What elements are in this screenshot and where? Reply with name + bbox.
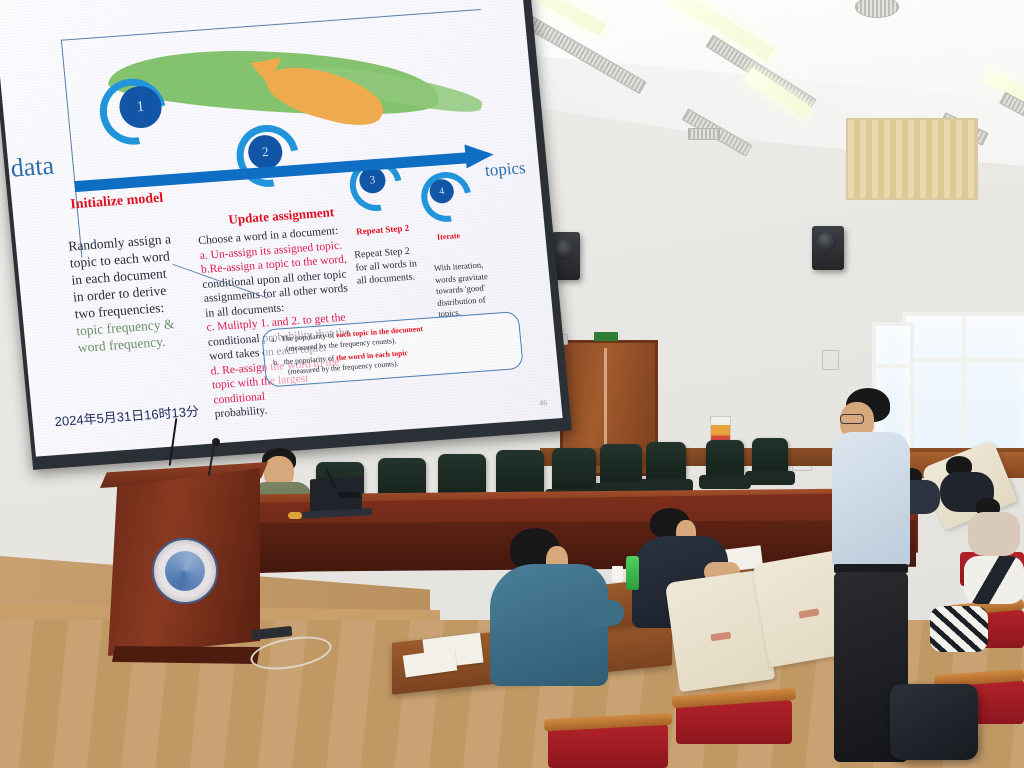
audience-torso <box>964 556 1024 604</box>
green-thermos <box>626 556 639 590</box>
audience-torso <box>490 564 608 686</box>
backpack <box>890 684 978 760</box>
wall-speaker-right <box>812 226 844 270</box>
projection-screen: 1 2 3 4 data topics <box>0 0 573 480</box>
slide-page-number: 46 <box>539 398 548 408</box>
window-curtain <box>846 118 978 200</box>
head-table-chair[interactable] <box>552 448 596 496</box>
head-table-chair[interactable] <box>646 442 686 486</box>
wall-plate-right <box>822 350 839 370</box>
ceiling-vent-4 <box>688 128 720 140</box>
lecture-hall-photo: 1 2 3 4 data topics <box>0 0 1024 768</box>
desk-item-orange <box>288 512 302 519</box>
audience-arm <box>584 600 624 626</box>
table-microphone-base <box>338 492 360 498</box>
callout-marker: b. <box>273 358 280 367</box>
step-number-3: 3 <box>369 174 376 186</box>
screen-surface: 1 2 3 4 data topics <box>0 0 563 457</box>
head-table-chair[interactable] <box>600 444 642 490</box>
auditorium-seat[interactable] <box>548 724 668 768</box>
step-number-2: 2 <box>261 144 269 160</box>
slide-column-initialize: Randomly assign atopic to each wordin ea… <box>67 229 204 357</box>
step-label-4: Iterate <box>437 231 461 242</box>
paper-cup <box>612 566 623 582</box>
exit-sign <box>594 332 618 341</box>
slide-timestamp: 2024年5月31日16时13分 <box>54 401 200 431</box>
eyeglasses-icon <box>840 414 864 424</box>
axis-end-label: topics <box>484 158 526 181</box>
university-seal-logo <box>152 538 218 604</box>
step-number-4: 4 <box>439 186 445 197</box>
slide-column-iterate: With iteration,words gravitatetowards 'g… <box>433 258 500 320</box>
standing-attendee-shirt <box>832 432 910 566</box>
slide-column-repeat: Repeat Step 2for all words inall documen… <box>354 243 433 287</box>
step-number-1: 1 <box>136 98 145 115</box>
axis-start-label: data <box>9 151 55 184</box>
slide-column-update: Choose a word in a document:a. Un-assign… <box>198 223 365 422</box>
window-right-1 <box>902 312 1024 462</box>
callout-marker: a. <box>271 335 277 344</box>
head-table-chair[interactable] <box>706 440 744 482</box>
seal-emblem <box>165 551 205 591</box>
podium-base <box>112 646 260 664</box>
audience-torso <box>968 512 1020 556</box>
window-mullion-h2 <box>876 364 910 368</box>
head-table-chair[interactable] <box>752 438 788 478</box>
window-mullion-v <box>962 316 966 458</box>
audience-torso <box>930 606 988 652</box>
